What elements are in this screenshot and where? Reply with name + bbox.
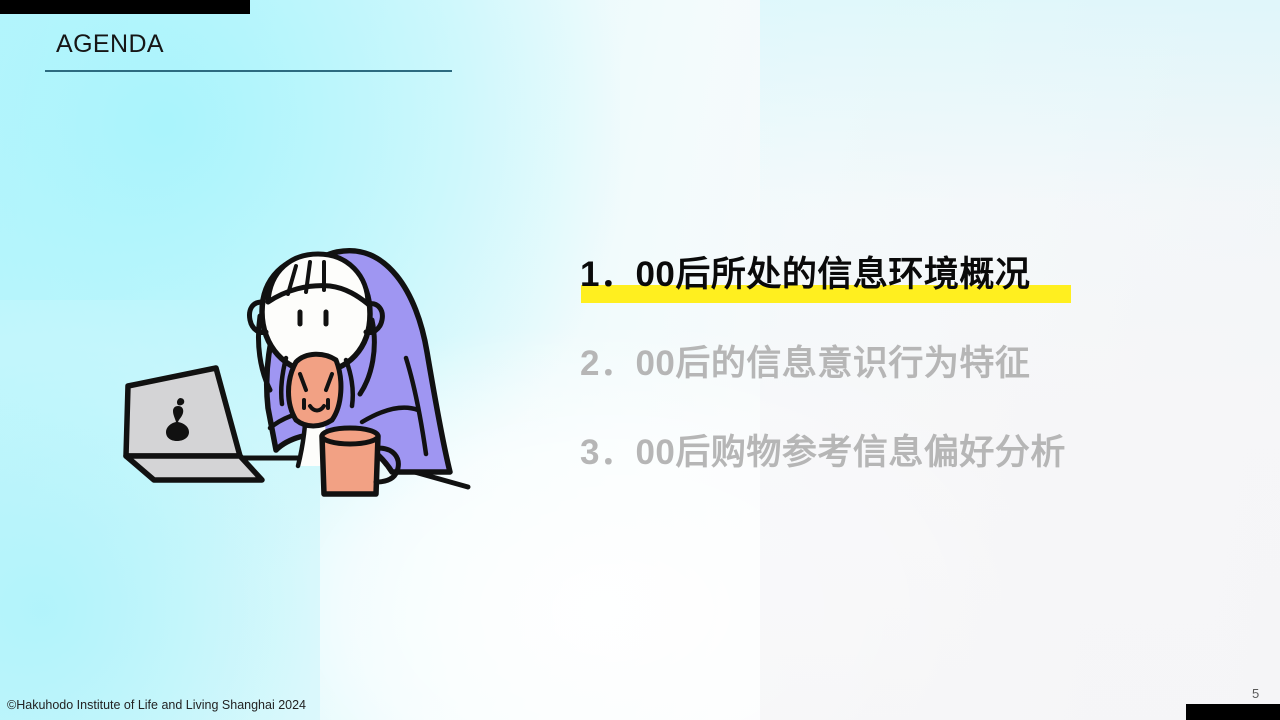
page-title: AGENDA <box>56 30 164 59</box>
title-underline-rule <box>45 70 452 72</box>
agenda-item-1-label: 00后所处的信息环境概况 <box>635 252 1030 298</box>
footer-copyright: ©Hakuhodo Institute of Life and Living S… <box>7 698 306 712</box>
agenda-list: 1．00后所处的信息环境概况 2．00后的信息意识行为特征 3．00后购物参考信… <box>580 252 1220 519</box>
illustration-person-at-laptop <box>110 240 500 515</box>
agenda-item-2-number: 2． <box>580 341 635 387</box>
agenda-item-1-number: 1． <box>580 252 635 298</box>
agenda-item-3[interactable]: 3．00后购物参考信息偏好分析 <box>580 430 1220 519</box>
page-number: 5 <box>1252 686 1259 701</box>
agenda-item-3-number: 3． <box>580 430 635 476</box>
agenda-item-3-label: 00后购物参考信息偏好分析 <box>635 430 1065 476</box>
bottom-right-accent-bar <box>1186 704 1280 720</box>
top-left-accent-bar <box>0 0 250 14</box>
agenda-item-2[interactable]: 2．00后的信息意识行为特征 <box>580 341 1220 430</box>
slide-canvas: AGENDA <box>0 0 1280 720</box>
agenda-item-1[interactable]: 1．00后所处的信息环境概况 <box>580 252 1220 341</box>
agenda-item-2-label: 00后的信息意识行为特征 <box>635 341 1030 387</box>
